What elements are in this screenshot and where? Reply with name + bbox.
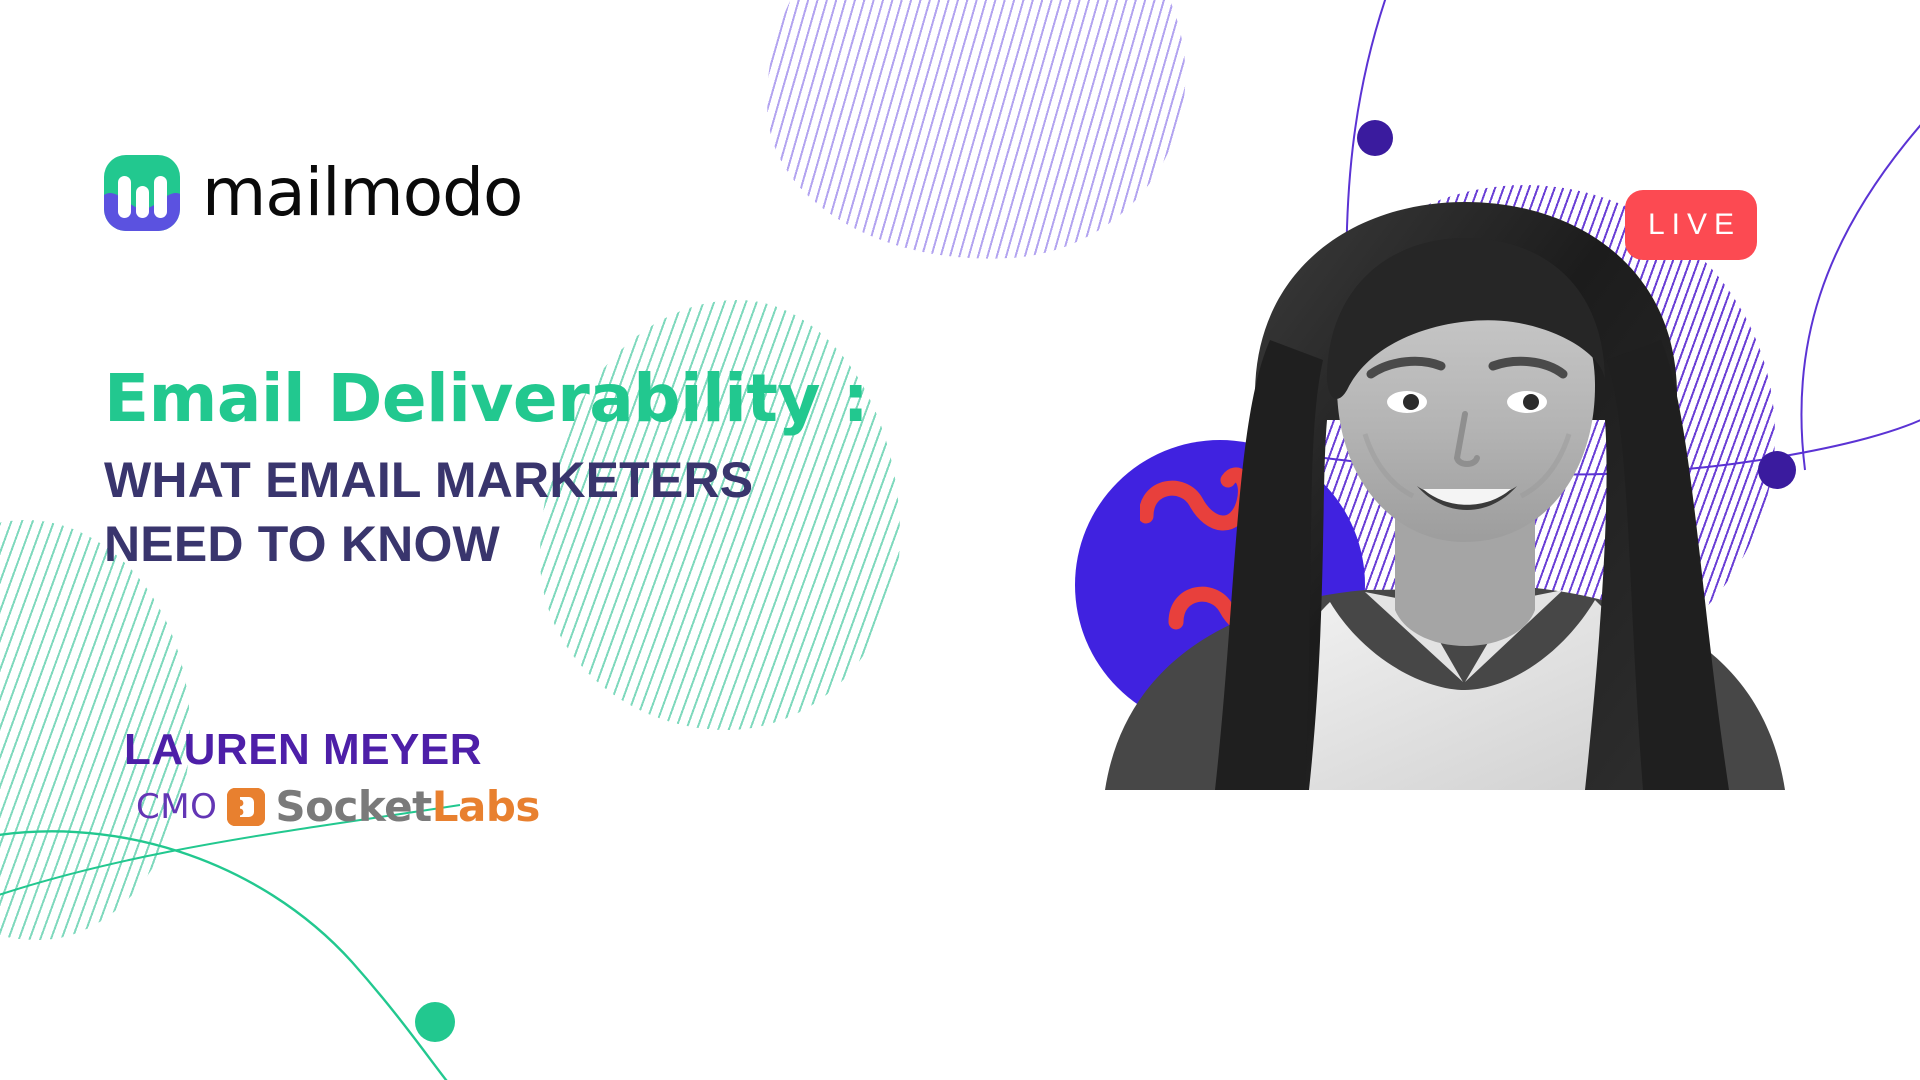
status-badge-live: LIVE bbox=[1625, 190, 1757, 260]
socketlabs-wordmark: SocketLabs bbox=[275, 786, 540, 828]
page-subtitle-line-1: WHAT EMAIL MARKETERS bbox=[104, 448, 964, 512]
mailmodo-mark-icon bbox=[104, 155, 180, 231]
mailmodo-wordmark: mailmodo bbox=[202, 160, 522, 226]
socketlabs-plug-icon bbox=[227, 788, 265, 826]
speaker-role: CMO bbox=[136, 790, 217, 824]
mark-bar bbox=[136, 186, 149, 218]
mark-bar bbox=[154, 176, 167, 218]
content-layer: mailmodo Email Deliverability : WHAT EMA… bbox=[0, 0, 1920, 1080]
speaker-name: LAUREN MEYER bbox=[124, 728, 540, 772]
socketlabs-word-part-2: Labs bbox=[432, 786, 540, 828]
mailmodo-logo[interactable]: mailmodo bbox=[104, 155, 522, 231]
speaker-block: LAUREN MEYER CMO SocketLabs bbox=[124, 728, 540, 828]
title-block: Email Deliverability : WHAT EMAIL MARKET… bbox=[104, 360, 964, 576]
mark-bar bbox=[118, 176, 131, 218]
speaker-role-row: CMO SocketLabs bbox=[136, 786, 540, 828]
socketlabs-word-part-1: Socket bbox=[275, 786, 431, 828]
webinar-banner: mailmodo Email Deliverability : WHAT EMA… bbox=[0, 0, 1920, 1080]
page-subtitle-line-2: NEED TO KNOW bbox=[104, 512, 964, 576]
speaker-portrait bbox=[1065, 190, 1795, 790]
status-badge-label: LIVE bbox=[1641, 210, 1741, 240]
page-title: Email Deliverability : bbox=[104, 360, 964, 438]
